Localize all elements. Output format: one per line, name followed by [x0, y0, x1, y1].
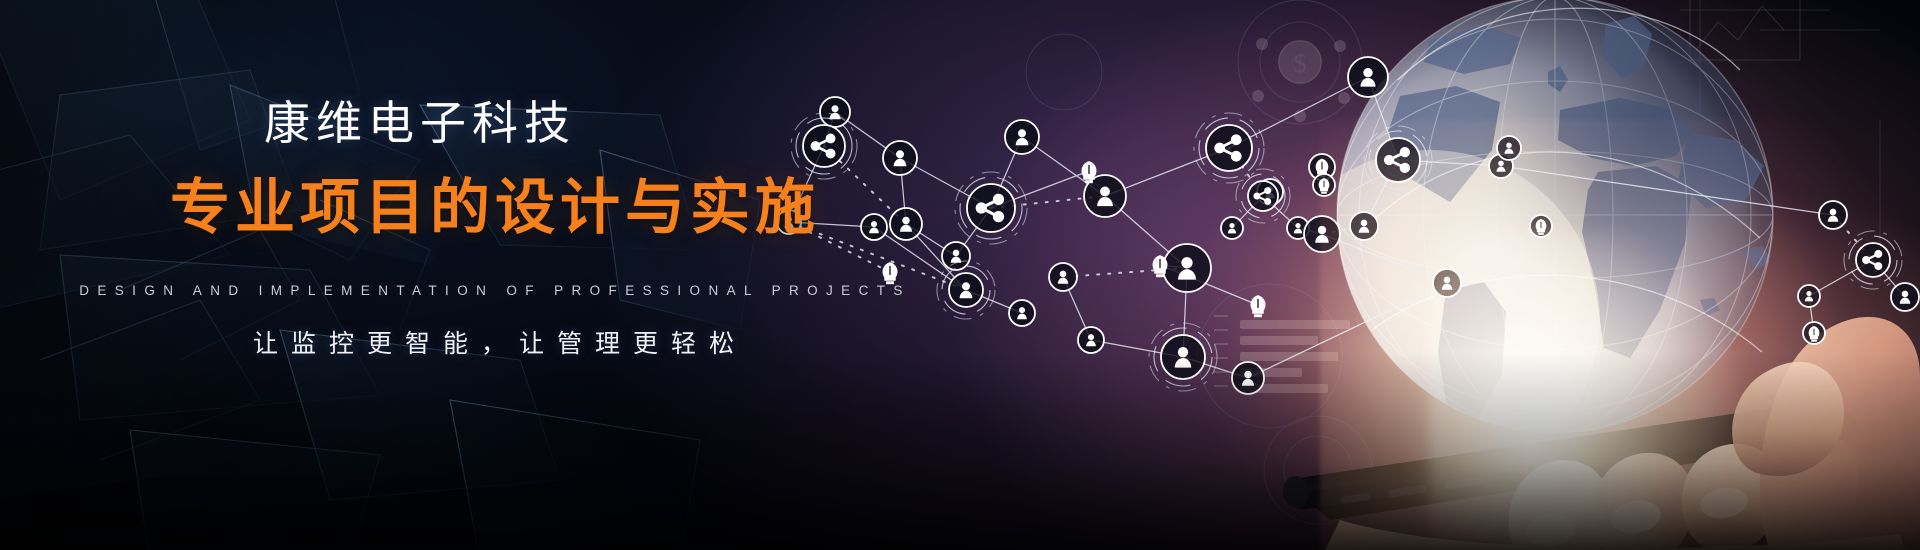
subtitle-english: DESIGN AND IMPLEMENTATION OF PROFESSIONA… [0, 284, 990, 298]
banner-copy: 康维电子科技 专业项目的设计与实施 DESIGN AND IMPLEMENTAT… [0, 0, 1010, 550]
tagline: 让监控更智能，让管理更轻松 [0, 332, 1000, 357]
brand-title: 康维电子科技 [0, 100, 840, 146]
headline: 专业项目的设计与实施 [0, 178, 990, 238]
hero-banner: $ [0, 0, 1920, 550]
